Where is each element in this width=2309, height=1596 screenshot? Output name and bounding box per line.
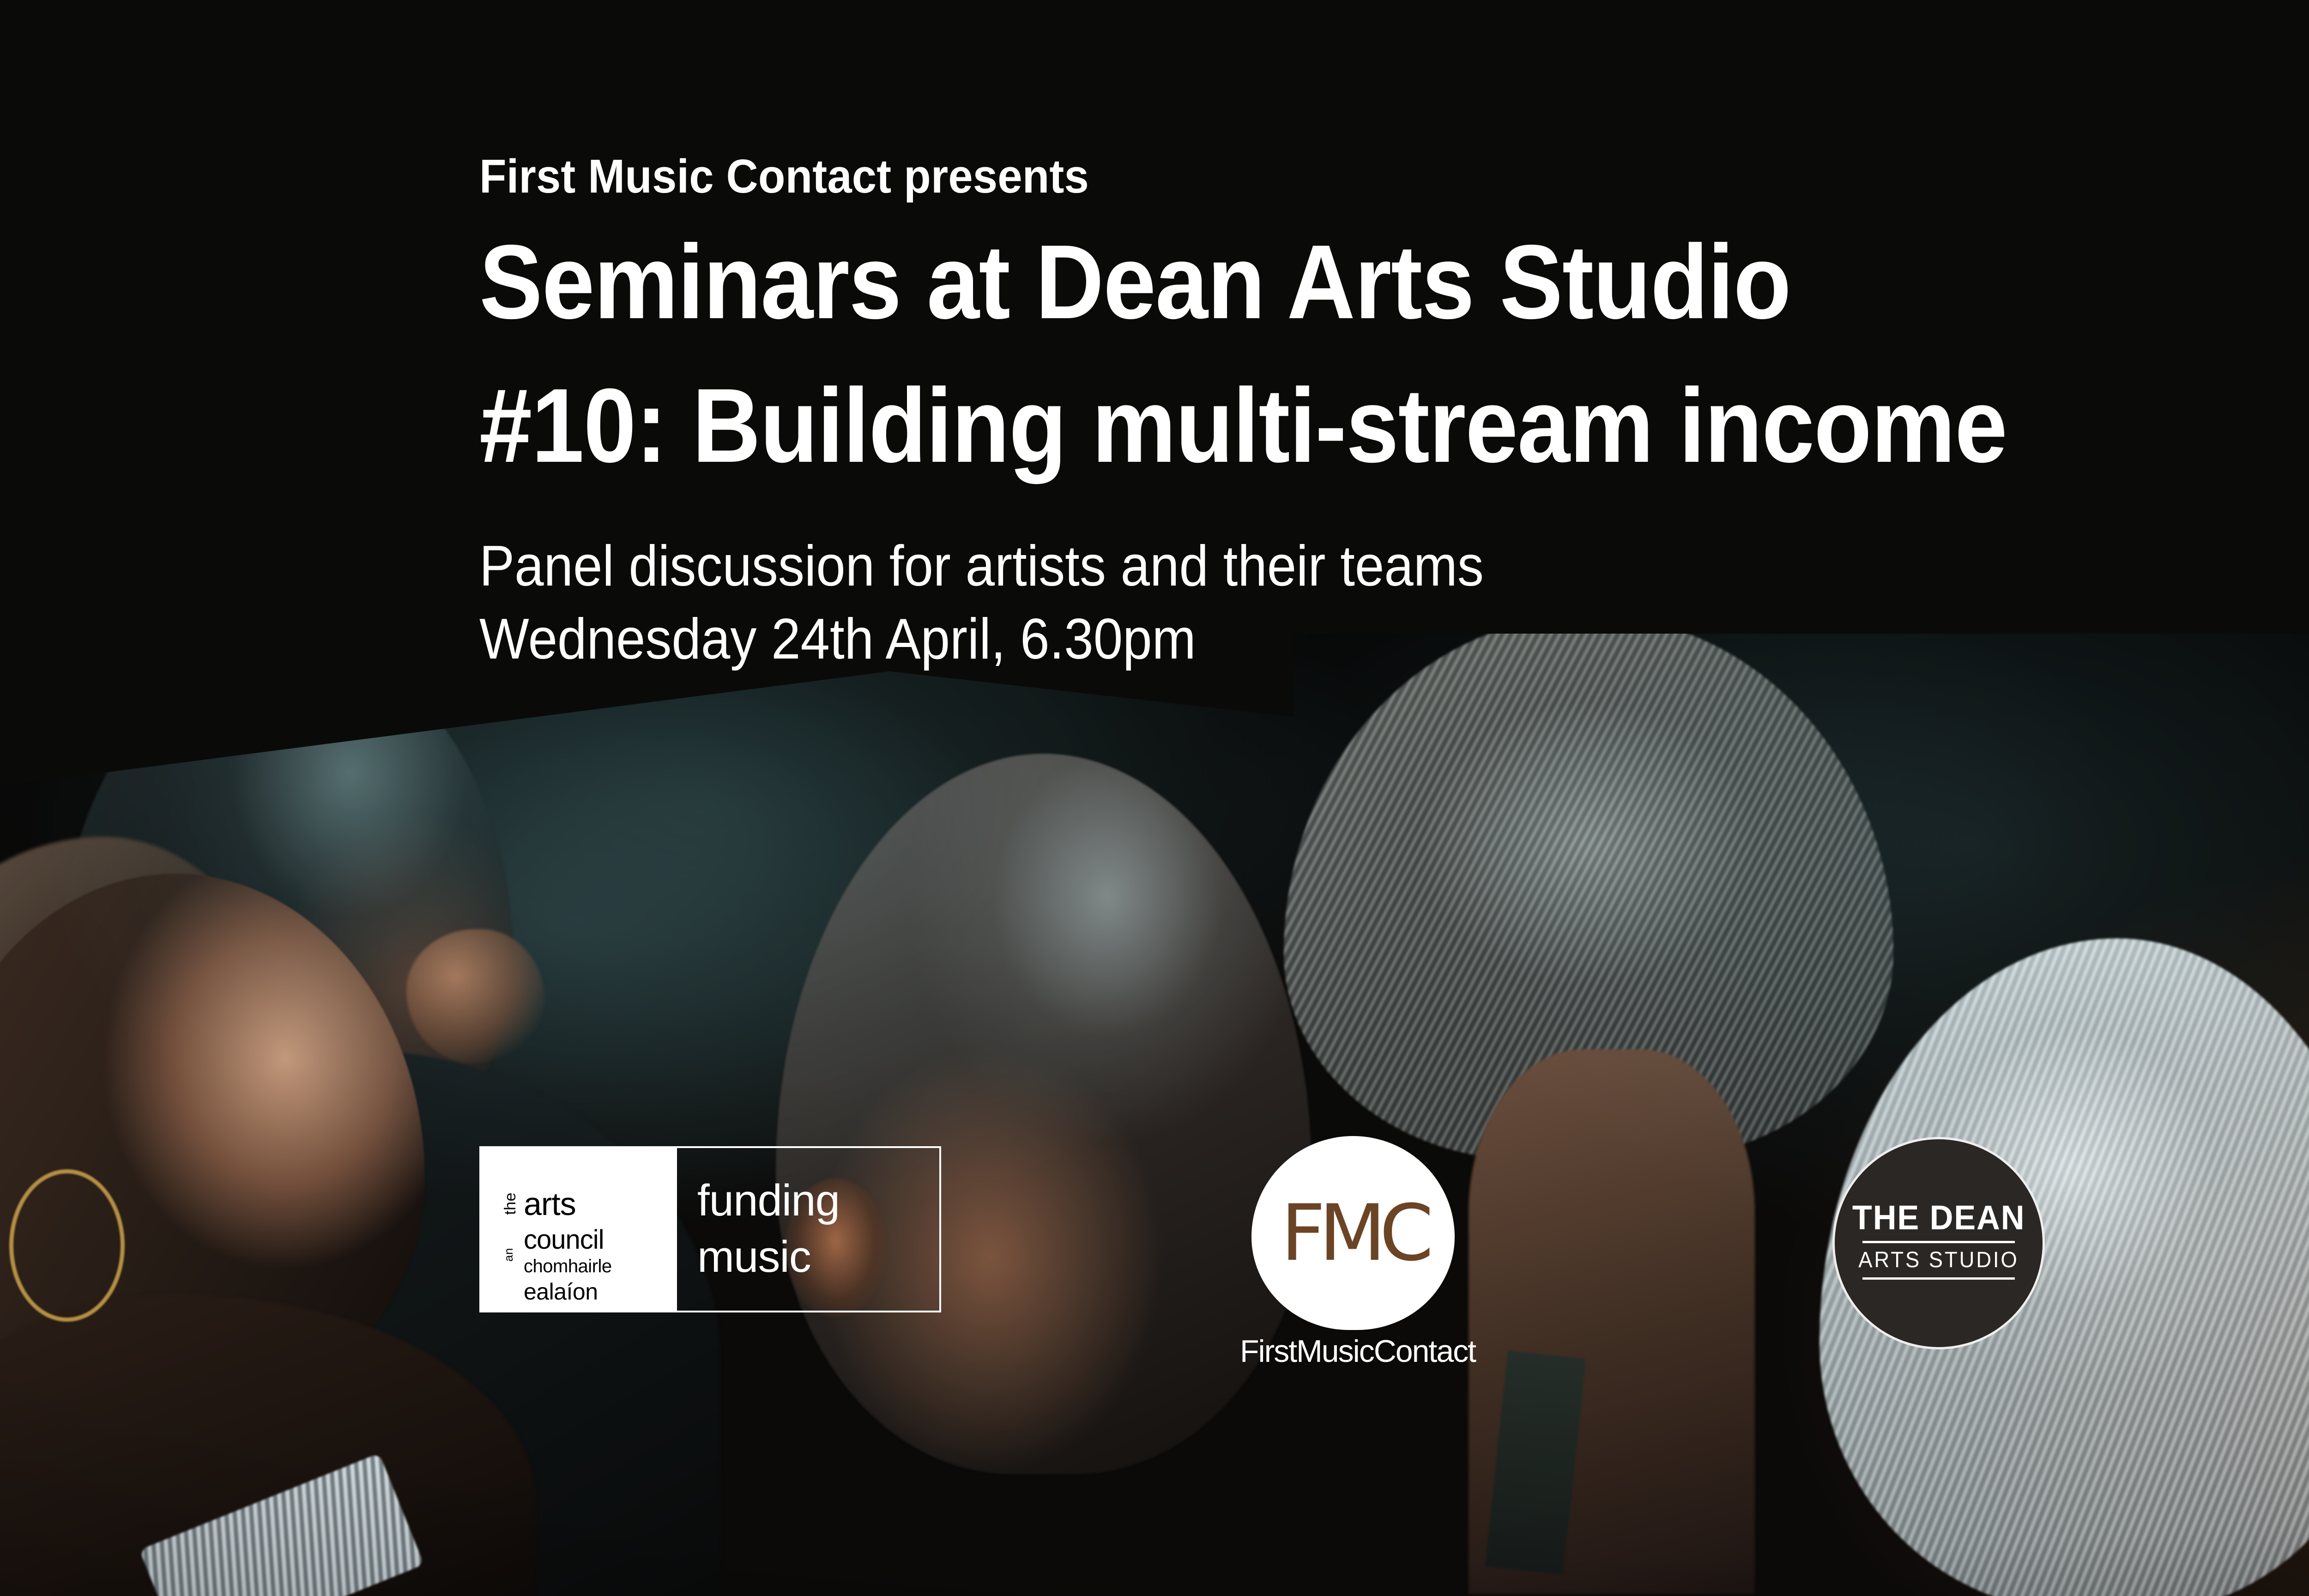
fmc-monogram-icon: FMC (1251, 1136, 1455, 1330)
header-text-block: First Music Contact presents Seminars at… (479, 152, 2309, 671)
fmc-wordmark: FirstMusicContact (1228, 1336, 1487, 1367)
dean-divider (1862, 1277, 2015, 1280)
dean-line-1: THE DEAN (1852, 1201, 2025, 1235)
page-subtitle-headline: #10: Building multi-stream income (479, 372, 2309, 480)
the-dean-arts-studio-logo[interactable]: THE DEAN ARTS STUDIO (1832, 1137, 2045, 1349)
event-datetime: Wednesday 24th April, 6.30pm (479, 609, 2309, 671)
event-details: Panel discussion for artists and their t… (479, 536, 2309, 671)
dean-line-2: ARTS STUDIO (1858, 1249, 2019, 1271)
partner-logo-row: the arts council an chomhairle ealaíon f… (0, 1136, 2309, 1376)
arts-council-arts: arts (524, 1188, 576, 1220)
funding-music-panel: funding music (675, 1148, 939, 1311)
page-title: Seminars at Dean Arts Studio (479, 229, 2309, 336)
event-format: Panel discussion for artists and their t… (479, 536, 2309, 598)
arts-council-council: council (524, 1227, 604, 1253)
arts-council-an: an (502, 1248, 514, 1262)
music-label: music (697, 1235, 811, 1279)
event-poster: First Music Contact presents Seminars at… (0, 0, 2309, 1596)
film-grain (0, 634, 2309, 1596)
kicker-text: First Music Contact presents (479, 152, 2309, 200)
arts-council-chomhairle: chomhairle (524, 1257, 612, 1276)
arts-council-mark: the arts council an chomhairle ealaíon (481, 1148, 675, 1311)
arts-council-the: the (502, 1192, 518, 1215)
first-music-contact-logo[interactable]: FMC FirstMusicContact (1228, 1136, 1487, 1353)
funding-label: funding (697, 1179, 840, 1223)
arts-council-logo[interactable]: the arts council an chomhairle ealaíon f… (479, 1146, 941, 1312)
arts-council-ealaion: ealaíon (524, 1280, 598, 1303)
dean-divider (1862, 1241, 2015, 1243)
audience-photo (0, 634, 2309, 1596)
